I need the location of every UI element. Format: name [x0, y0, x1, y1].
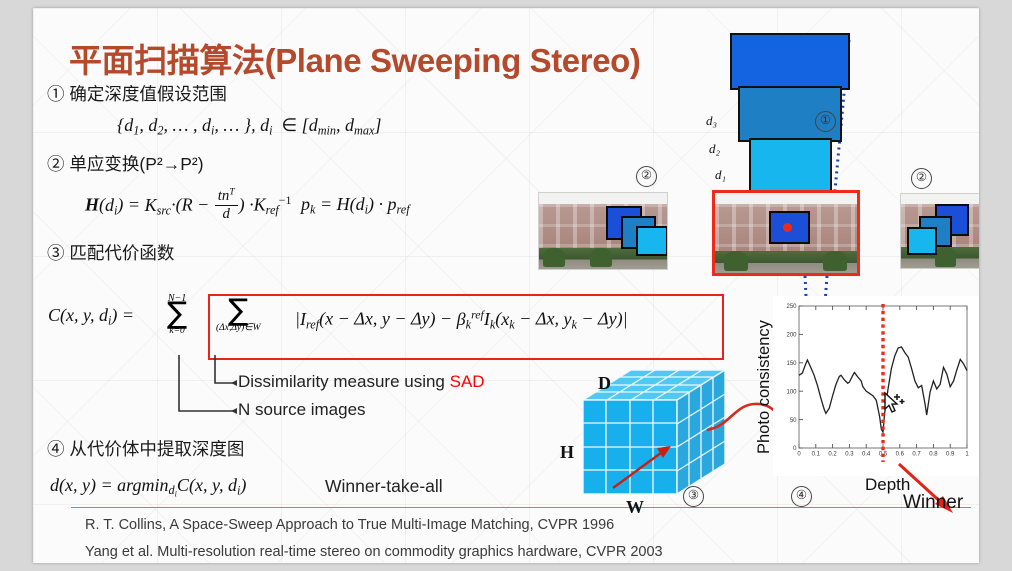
annotation-dissimilarity: Dissimilarity measure using SAD [238, 372, 485, 392]
marker-circle-2-left: ② [636, 166, 657, 187]
svg-text:0.6: 0.6 [896, 452, 905, 458]
photo-bush-left [543, 248, 565, 268]
svg-text:150: 150 [786, 361, 797, 367]
svg-text:0.3: 0.3 [845, 452, 854, 458]
source-image-right [900, 193, 979, 269]
svg-text:0.7: 0.7 [912, 452, 921, 458]
chart-plot-area: 050100150200250 00.10.20.30.40.50.60.70.… [773, 296, 979, 476]
cube-label-height: H [560, 442, 574, 463]
sad-label: SAD [450, 372, 485, 391]
annotation-n-source: N source images [238, 400, 366, 420]
mouse-cursor [881, 393, 907, 421]
step-4-marker: ④ [47, 439, 65, 459]
svg-text:0.9: 0.9 [946, 452, 955, 458]
source-left-patch-d1 [636, 226, 668, 257]
step-1-heading: ① 确定深度值假设范围 [47, 81, 227, 106]
step-1-marker: ① [47, 84, 65, 104]
step-1-label: 确定深度值假设范围 [69, 84, 227, 104]
marker-circle-2-right: ② [911, 168, 932, 189]
depth-label-d2: d₂ [709, 141, 720, 157]
depth-label-d1: d₁ [715, 167, 726, 183]
step-3-label: 匹配代价函数 [69, 243, 174, 263]
slide-canvas: 平面扫描算法(Plane Sweeping Stereo) ① 确定深度值假设范… [33, 8, 979, 563]
formula-argmin: d(x, y) = argmindiC(x, y, di) [50, 475, 246, 499]
source-image-left [538, 192, 668, 270]
svg-text:100: 100 [786, 389, 797, 395]
dissimilarity-text: Dissimilarity measure using [238, 372, 450, 391]
cost-formula-highlight-box [208, 294, 724, 360]
step-2-label: 单应变换(P²→P²) [69, 154, 203, 174]
depth-label-d3: d₃ [706, 113, 717, 129]
reference-2: Yang et al. Multi-resolution real-time s… [85, 544, 663, 560]
marker-circle-4: ④ [791, 486, 812, 507]
photo-bush-left [724, 251, 748, 272]
marker-circle-1: ① [815, 111, 836, 132]
svg-text:0.8: 0.8 [929, 452, 938, 458]
svg-text:0.1: 0.1 [812, 452, 821, 458]
annotation-winner-take-all: Winner-take-all [325, 476, 443, 497]
step-3-marker: ③ [47, 243, 65, 263]
photo-consistency-chart: 050100150200250 00.10.20.30.40.50.60.70.… [773, 296, 979, 476]
photo-bush-mid [935, 247, 956, 266]
source-right-patch-d1 [907, 227, 937, 255]
formula-reprojection: pk = H(di) · pref [301, 194, 410, 217]
depth-plane-3 [730, 33, 850, 90]
cube-label-width: W [626, 497, 644, 518]
chart-winner-label: Winner [903, 492, 963, 514]
svg-text:50: 50 [790, 418, 797, 424]
page-title: 平面扫描算法(Plane Sweeping Stereo) [69, 34, 641, 82]
chart-y-axis-label: Photo consistency [755, 320, 774, 454]
formula-homography: H(di) = Ksrc·(R − tnTd) ·Kref−1 [85, 189, 291, 224]
formula-depth-set: {d1, d2, … , di, … }, di ∈ [dmin, dmax] [117, 115, 381, 138]
step-2-heading: ② 单应变换(P²→P²) [47, 151, 204, 176]
svg-text:250: 250 [786, 304, 797, 310]
marker-circle-3: ③ [683, 486, 704, 507]
reference-divider [71, 507, 971, 508]
cube-label-depth: D [598, 373, 611, 394]
step-4-heading: ④ 从代价体中提取深度图 [47, 436, 244, 461]
svg-text:0: 0 [797, 452, 801, 458]
svg-text:1: 1 [965, 452, 969, 458]
step-4-label: 从代价体中提取深度图 [69, 439, 244, 459]
formula-outer-sum: N−1 ∑ k=0 [167, 294, 187, 336]
svg-text:0.2: 0.2 [828, 452, 837, 458]
step-2-marker: ② [47, 154, 65, 174]
reference-image [712, 190, 860, 276]
formula-cost-lhs: C(x, y, di) = [48, 305, 134, 328]
photo-bush-right [823, 251, 847, 272]
photo-bush-mid [590, 248, 612, 268]
svg-text:200: 200 [786, 333, 797, 339]
svg-text:0.4: 0.4 [862, 452, 871, 458]
step-3-heading: ③ 匹配代价函数 [47, 240, 174, 265]
reference-1: R. T. Collins, A Space-Sweep Approach to… [85, 517, 614, 533]
depth-plane-1 [749, 138, 832, 194]
